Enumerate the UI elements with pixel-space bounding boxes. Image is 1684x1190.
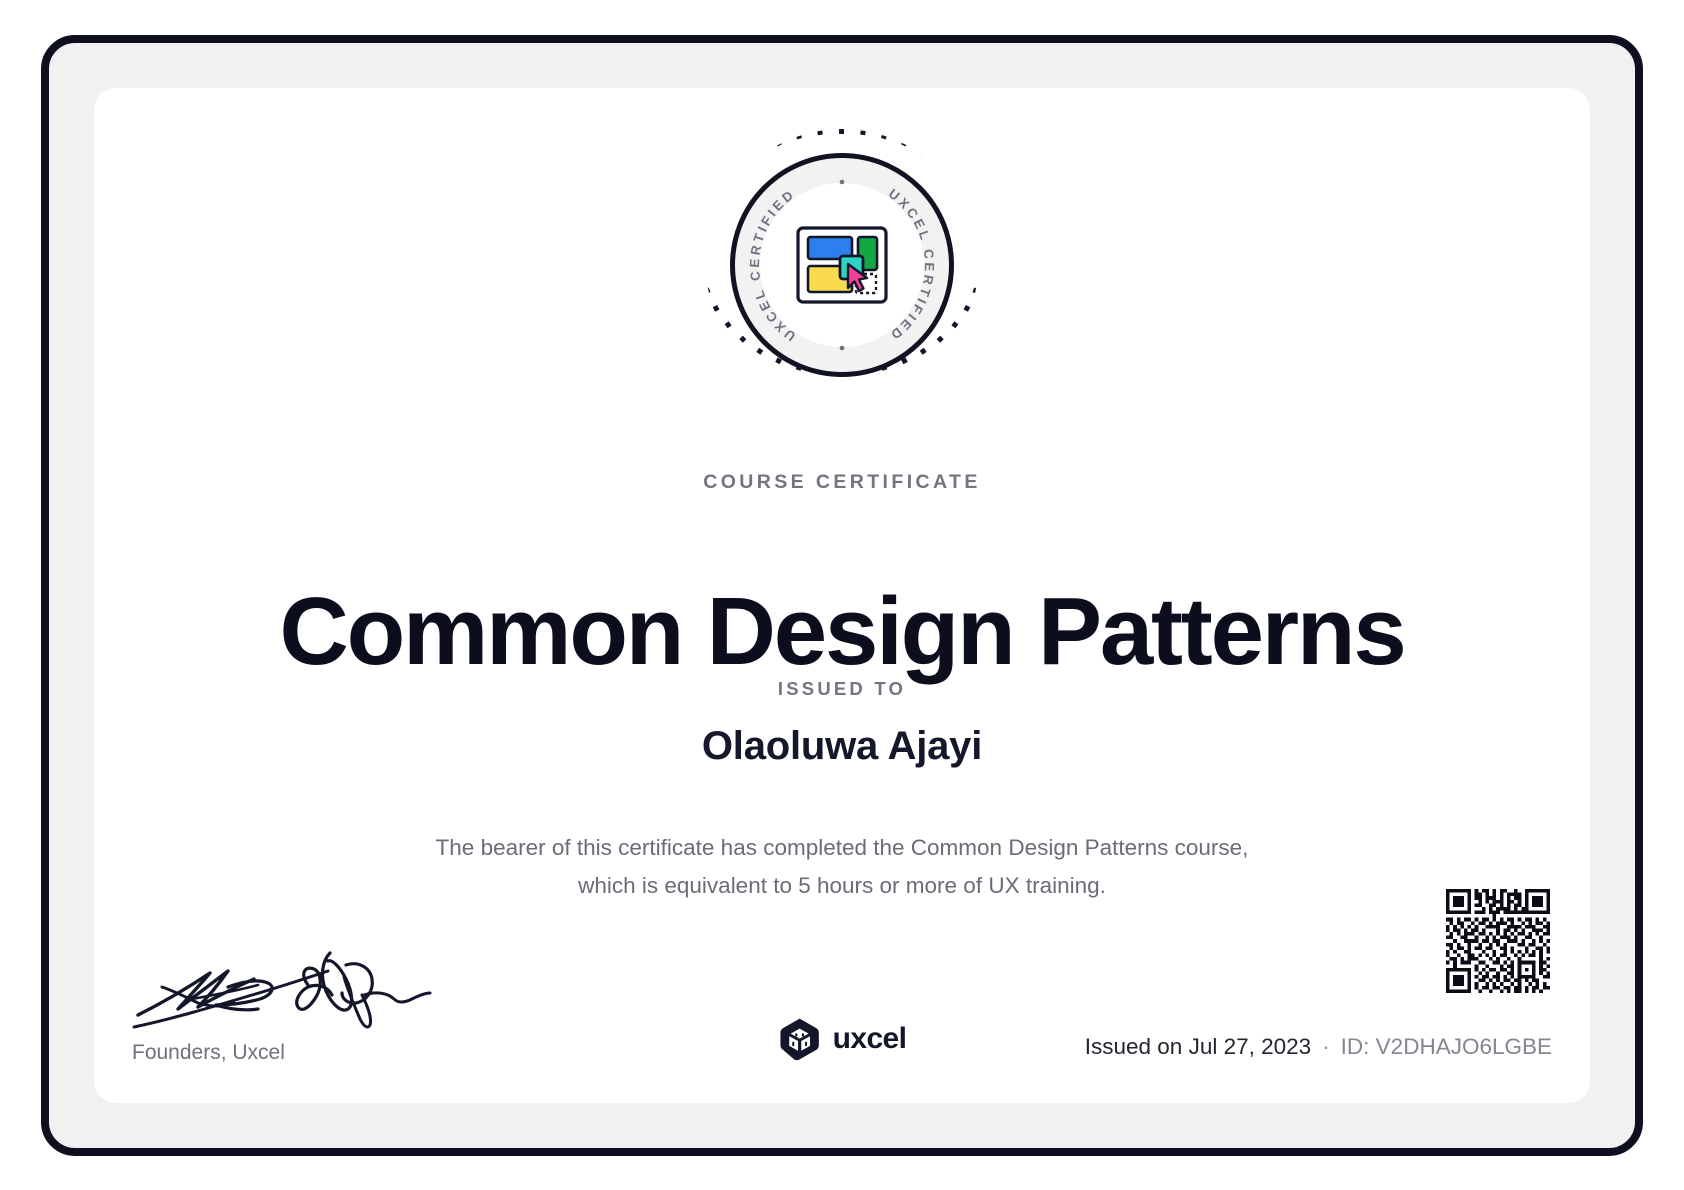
page-title: Common Design Patterns [94, 580, 1590, 684]
uxcel-brand: uxcel [778, 1017, 907, 1061]
certificate-meta: Issued on Jul 27, 2023 · ID: V2DHAJO6LGB… [1085, 1034, 1552, 1060]
meta-separator: · [1311, 1034, 1341, 1060]
seal-text-bottom: UXCEL CERTIFIED [747, 186, 798, 344]
uxcel-wordmark: uxcel [833, 1022, 907, 1056]
signature-caption: Founders, Uxcel [132, 1041, 462, 1065]
seal-bullet-bottom-icon [840, 346, 845, 351]
design-patterns-icon [796, 226, 888, 304]
uxcel-certified-seal: UXCEL CERTIFIED UXCEL CERTIFIED [706, 129, 978, 401]
issued-on-date: Issued on Jul 27, 2023 [1085, 1034, 1311, 1060]
signature-block: Founders, Uxcel [132, 947, 462, 1065]
kicker-course-certificate: COURSE CERTIFICATE [94, 471, 1590, 494]
recipient-name: Olaoluwa Ajayi [94, 720, 1590, 772]
kicker-issued-to: ISSUED TO [94, 678, 1590, 700]
certificate-id: ID: V2DHAJO6LGBE [1341, 1034, 1552, 1060]
seal-bullet-top-icon [840, 180, 845, 185]
verification-qr-code[interactable] [1446, 889, 1550, 993]
certificate-body-text: The bearer of this certificate has compl… [412, 829, 1272, 905]
seal-text-top: UXCEL CERTIFIED [886, 186, 937, 344]
certificate-card: UXCEL CERTIFIED UXCEL CERTIFIED COURSE C… [94, 88, 1590, 1103]
founders-signature-icon [132, 947, 432, 1033]
certificate-frame: UXCEL CERTIFIED UXCEL CERTIFIED COURSE C… [41, 35, 1643, 1156]
uxcel-logo-icon [778, 1017, 822, 1061]
